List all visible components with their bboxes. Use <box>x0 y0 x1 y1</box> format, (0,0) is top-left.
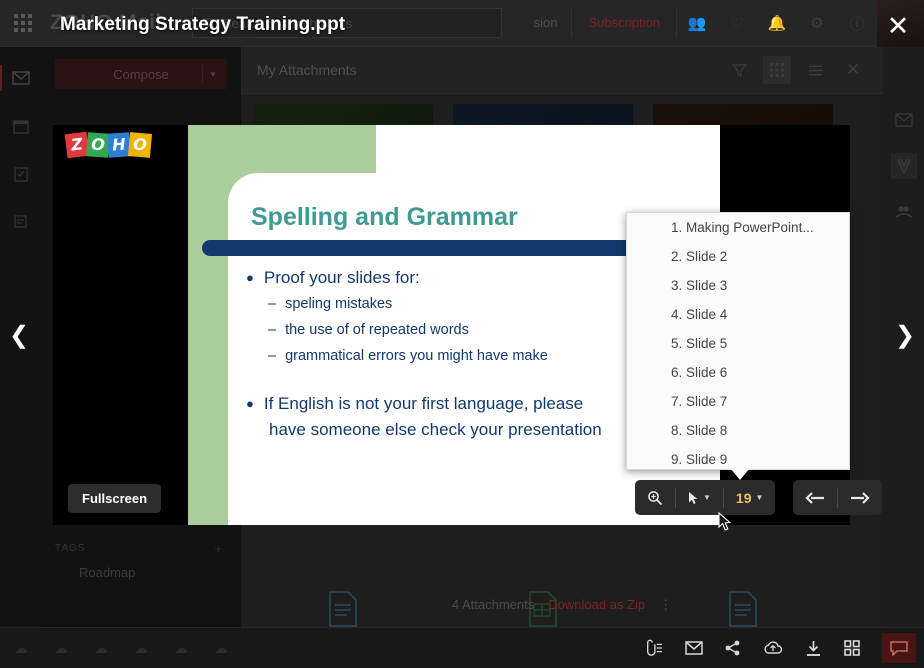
viewer-toolbar: ▼ 19 ▼ <box>635 480 882 515</box>
next-attachment-button[interactable]: ❯ <box>888 318 922 352</box>
screen: ZOHO Mail Search in attachments sion Sub… <box>0 0 924 668</box>
compose-label: Compose <box>113 67 169 82</box>
notifications-bell-icon[interactable]: 🔔 <box>757 14 797 32</box>
right-rail-item-mail[interactable] <box>891 107 917 133</box>
viewer-close-button[interactable]: ✕ <box>880 8 916 44</box>
feedback-icon[interactable]: ♡ <box>717 14 757 32</box>
app-launcher-button[interactable] <box>0 14 46 32</box>
waffle-grid-icon <box>14 14 32 32</box>
attachment-count: 4 Attachments <box>452 597 534 613</box>
close-icon[interactable]: ✕ <box>839 56 867 84</box>
slide-selector-dropdown[interactable]: 1. Making PowerPoint... 2. Slide 2 3. Sl… <box>626 212 850 470</box>
attachment-list-icon[interactable] <box>645 639 663 657</box>
chevron-down-icon[interactable]: ▼ <box>703 493 711 502</box>
slide-list-item[interactable]: 6. Slide 6 <box>627 358 849 387</box>
attachments-footer: 4 Attachments Download as Zip ⋮ <box>241 597 883 613</box>
mail-icon <box>12 71 30 85</box>
bottom-bar: ☁ ☁ ☁ ☁ ☁ ☁ <box>0 627 924 668</box>
right-rail-item-contacts[interactable] <box>891 199 917 225</box>
mail-icon <box>895 113 913 127</box>
bullet-dash-icon: – <box>268 343 276 369</box>
right-rail-item-vault[interactable] <box>891 153 917 179</box>
top-bar-actions: sion Subscription 👥 ♡ 🔔 ⚙ ⓘ <box>520 0 924 47</box>
sidebar-item-mail[interactable] <box>8 65 34 91</box>
sidebar-item-tasks[interactable] <box>8 161 34 187</box>
search-icon <box>203 17 215 29</box>
slide-list-item[interactable]: 3. Slide 3 <box>627 271 849 300</box>
bullet-text: grammatical errors you might have make <box>285 343 548 369</box>
zoho-letter-o2: O <box>128 132 152 158</box>
bullet-dot-icon: ● <box>246 265 254 291</box>
slide-list-item[interactable]: 5. Slide 5 <box>627 329 849 358</box>
notes-icon <box>13 214 29 230</box>
bullet-text: have someone else check your presentatio… <box>269 417 602 443</box>
cloud-upload-icon[interactable] <box>763 641 783 656</box>
tags-header: TAGS + <box>55 543 227 554</box>
attachments-header: My Attachments ✕ <box>241 47 883 94</box>
zoho-letter-o1: O <box>86 132 110 157</box>
previous-page-button[interactable] <box>793 480 837 515</box>
slide-list-item[interactable]: 9. Slide 9 <box>627 445 849 470</box>
more-options-icon[interactable]: ⋮ <box>659 597 672 613</box>
tasks-icon <box>14 166 28 182</box>
contacts-icon <box>895 205 913 219</box>
slide-title: Spelling and Grammar <box>251 203 518 232</box>
tags-label: TAGS <box>55 543 85 554</box>
bottom-bar-left: ☁ ☁ ☁ ☁ ☁ ☁ <box>0 640 228 657</box>
arrow-left-icon <box>805 491 825 505</box>
slide-list-item[interactable]: 1. Making PowerPoint... <box>627 213 849 242</box>
cloud-5-icon[interactable]: ☁ <box>174 640 188 657</box>
active-indicator <box>0 65 2 91</box>
next-page-button[interactable] <box>838 480 882 515</box>
slide-list-item[interactable]: 4. Slide 4 <box>627 300 849 329</box>
search-placeholder: Search in attachments <box>223 16 352 31</box>
chat-bubble-icon[interactable] <box>882 633 916 663</box>
vault-icon <box>896 157 912 175</box>
zoom-in-icon <box>647 490 663 506</box>
cloud-3-icon[interactable]: ☁ <box>94 640 108 657</box>
bullet-text: If English is not your first language, p… <box>264 391 583 417</box>
cloud-1-icon[interactable]: ☁ <box>14 640 28 657</box>
pointer-tool-icon <box>688 491 699 505</box>
grid-view-icon[interactable] <box>763 56 791 84</box>
app-top-bar: ZOHO Mail Search in attachments sion Sub… <box>0 0 924 47</box>
chevron-down-icon[interactable]: ▼ <box>756 493 764 502</box>
sidebar-item-calendar[interactable] <box>8 113 34 139</box>
dropdown-pointer <box>730 468 750 480</box>
slide-list-item[interactable]: 2. Slide 2 <box>627 242 849 271</box>
attachments-header-actions: ✕ <box>725 56 867 84</box>
page-title: My Attachments <box>257 62 357 78</box>
slide-list-item[interactable]: 7. Slide 7 <box>627 387 849 416</box>
bullet-text: speling mistakes <box>285 291 392 317</box>
add-tag-icon[interactable]: + <box>214 541 223 556</box>
calendar-icon <box>13 118 29 134</box>
sidebar-item-notes[interactable] <box>8 209 34 235</box>
settings-gear-icon[interactable]: ⚙ <box>797 14 837 32</box>
contacts-icon[interactable]: 👥 <box>677 14 717 32</box>
bullet-dash-icon: – <box>268 317 276 343</box>
mail-icon[interactable] <box>685 641 703 655</box>
zoho-logo: Z O H O <box>66 133 150 157</box>
bullet-dot-icon: ● <box>246 391 254 417</box>
search-input[interactable]: Search in attachments <box>192 8 502 38</box>
zoom-in-button[interactable] <box>635 480 675 515</box>
filter-icon[interactable] <box>725 56 753 84</box>
grid-icon[interactable] <box>844 640 860 656</box>
cloud-4-icon[interactable]: ☁ <box>134 640 148 657</box>
cloud-6-icon[interactable]: ☁ <box>214 640 228 657</box>
fullscreen-button[interactable]: Fullscreen <box>68 484 161 513</box>
bullet-text: Proof your slides for: <box>264 265 420 291</box>
chevron-down-icon[interactable]: ▼ <box>209 70 217 79</box>
download-icon[interactable] <box>805 640 822 657</box>
viewer-tool-group-left: ▼ 19 ▼ <box>635 480 775 515</box>
arrow-right-icon <box>850 491 870 505</box>
help-icon[interactable]: ⓘ <box>837 13 877 34</box>
current-page-number: 19 <box>736 490 752 506</box>
previous-attachment-button[interactable]: ❮ <box>2 318 36 352</box>
download-zip-link[interactable]: Download as Zip <box>548 597 645 613</box>
slide-list-item[interactable]: 8. Slide 8 <box>627 416 849 445</box>
bottom-bar-right <box>645 633 924 663</box>
bullet-dash-icon: – <box>268 291 276 317</box>
tag-item-roadmap[interactable]: Roadmap <box>55 560 227 586</box>
pointer-tool-button[interactable]: ▼ <box>676 480 723 515</box>
viewer-tool-group-nav <box>793 480 882 515</box>
page-selector-button[interactable]: 19 ▼ <box>724 480 776 515</box>
app-logo: ZOHO Mail <box>50 11 162 35</box>
subscription-link[interactable]: Subscription <box>572 8 677 38</box>
compose-divider <box>202 65 203 83</box>
share-icon[interactable] <box>725 640 741 656</box>
session-label: sion <box>520 8 573 38</box>
cloud-2-icon[interactable]: ☁ <box>54 640 68 657</box>
bullet-text: the use of of repeated words <box>285 317 469 343</box>
compose-button[interactable]: Compose ▼ <box>55 59 227 89</box>
mouse-cursor <box>718 512 732 537</box>
list-view-icon[interactable] <box>801 56 829 84</box>
